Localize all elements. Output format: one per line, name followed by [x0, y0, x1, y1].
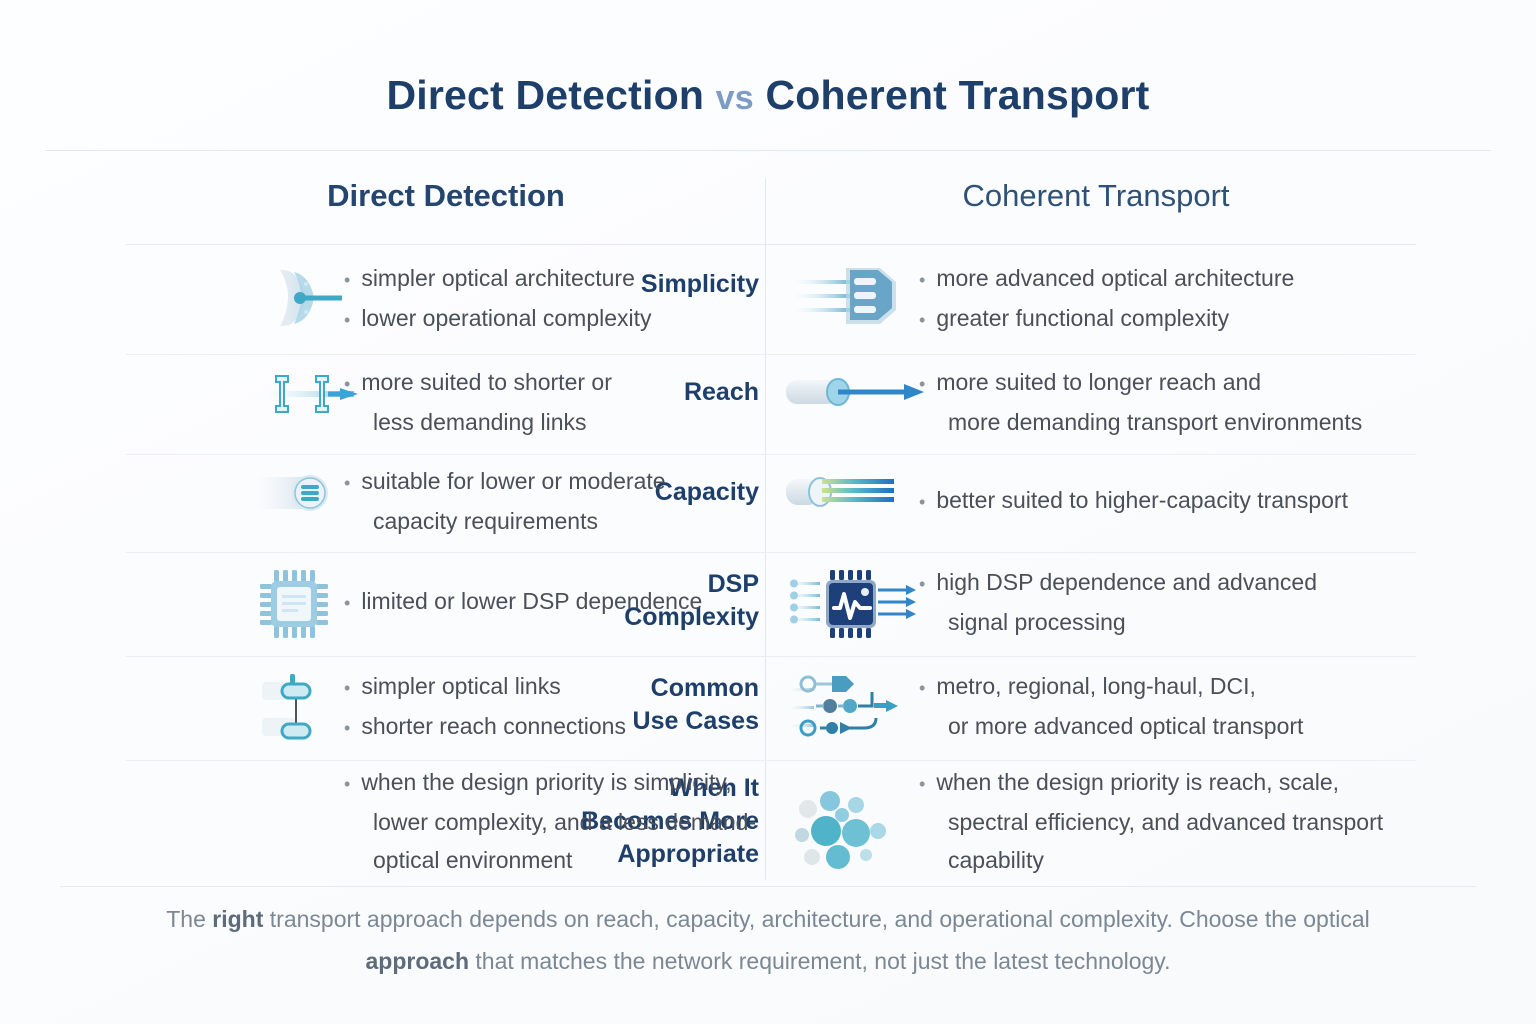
- direct-detection-bullet-list: suitable for lower or moderatecapacity r…: [344, 462, 666, 540]
- direct-detection-bullet: more suited to shorter orless demanding …: [344, 363, 612, 441]
- mesh-network-topology-icon: [786, 666, 882, 742]
- direct-detection-bullet: limited or lower DSP dependence: [344, 582, 702, 622]
- row-cell-direct-detection: CommonUse Cases simpler optical linkssho…: [126, 656, 765, 760]
- direct-detection-bullet: simpler optical architecture: [344, 259, 652, 299]
- two-node-link-icon: [254, 668, 350, 744]
- header-divider: [126, 244, 1416, 245]
- direct-detection-bullet-list: simpler optical architecturelower operat…: [344, 259, 652, 339]
- row-cell-direct-detection: Simplicity simpler optical architecturel…: [126, 246, 765, 354]
- direct-detection-bullet-line: optical environment: [373, 841, 756, 879]
- direct-detection-bullet-line: lower complexity, and a less demand-: [373, 803, 756, 841]
- comparison-row: DSPComplexity limited or lower DSP depen…: [126, 552, 1416, 656]
- multilane-fiber-spectrum-icon: [786, 461, 882, 537]
- footer-l1-a: The: [166, 906, 212, 932]
- coherent-transport-bullet: more suited to longer reach andmore dema…: [919, 363, 1362, 441]
- row-cell-coherent-transport: when the design priority is reach, scale…: [766, 760, 1416, 886]
- footer-l1-c: transport approach depends on reach, cap…: [263, 906, 1369, 932]
- coherent-transport-bullet-line: signal processing: [948, 603, 1317, 641]
- footer-summary: The right transport approach depends on …: [70, 898, 1466, 982]
- row-cell-coherent-transport: metro, regional, long-haul, DCI,or more …: [766, 656, 1416, 760]
- title-divider: [45, 150, 1491, 151]
- row-label-line: Simplicity: [641, 270, 759, 298]
- footer-l2-b: that matches the network requirement, no…: [469, 948, 1170, 974]
- row-label-line: Use Cases: [633, 707, 759, 735]
- stacked-lanes-badge-icon: [254, 463, 350, 539]
- column-headers: Direct Detection Coherent Transport: [0, 178, 1536, 242]
- plain-chip-icon: [254, 564, 350, 640]
- comparison-row: Capacity suitable for lower or moderatec…: [126, 454, 1416, 552]
- footer-line-1: The right transport approach depends on …: [70, 898, 1466, 940]
- direct-detection-bullet-list: when the design priority is simplicity,l…: [344, 763, 756, 879]
- coherent-transport-bullet-list: better suited to higher-capacity transpo…: [919, 481, 1348, 521]
- coherent-transport-bullet-line: capability: [948, 841, 1383, 879]
- column-header-direct-detection: Direct Detection: [126, 178, 766, 214]
- row-label-line: Capacity: [655, 478, 759, 506]
- direct-detection-bullet: simpler optical links: [344, 667, 626, 707]
- coherent-transport-bullet: high DSP dependence and advancedsignal p…: [919, 563, 1317, 641]
- row-cell-direct-detection: Capacity suitable for lower or moderatec…: [126, 454, 765, 552]
- footer-line-2: approach that matches the network requir…: [70, 940, 1466, 982]
- coherent-transport-bullet: greater functional complexity: [919, 299, 1294, 339]
- title-vs: vs: [716, 79, 754, 117]
- row-label-line: Reach: [684, 378, 759, 406]
- row-label-line: Common: [651, 674, 759, 702]
- fiber-endface-beam-icon: [254, 260, 350, 336]
- coherent-transport-bullet-list: metro, regional, long-haul, DCI,or more …: [919, 667, 1303, 745]
- coherent-transport-bullet-list: high DSP dependence and advancedsignal p…: [919, 563, 1317, 641]
- dsp-chip-waveform-icon: [786, 562, 882, 638]
- column-header-coherent-transport: Coherent Transport: [766, 178, 1426, 214]
- coherent-transport-bullet: when the design priority is reach, scale…: [919, 763, 1383, 879]
- coherent-transport-bullet-line: more demanding transport environments: [948, 403, 1362, 441]
- direct-detection-bullet: suitable for lower or moderatecapacity r…: [344, 462, 666, 540]
- coherent-transport-bullet: metro, regional, long-haul, DCI,or more …: [919, 667, 1303, 745]
- footer-emphasis-approach: approach: [366, 948, 470, 974]
- coherent-transport-bullet: better suited to higher-capacity transpo…: [919, 481, 1348, 521]
- row-cell-direct-detection: DSPComplexity limited or lower DSP depen…: [126, 552, 765, 656]
- footer-divider: [60, 886, 1476, 887]
- row-cell-coherent-transport: high DSP dependence and advancedsignal p…: [766, 552, 1416, 656]
- comparison-row: When ItBecomes MoreAppropriatewhen the d…: [126, 760, 1416, 886]
- coherent-transport-bullet-list: when the design priority is reach, scale…: [919, 763, 1383, 879]
- row-cell-coherent-transport: more suited to longer reach andmore dema…: [766, 354, 1416, 454]
- coherent-transport-bullet-list: more suited to longer reach andmore dema…: [919, 363, 1362, 441]
- long-fiber-arrow-icon: [786, 362, 882, 438]
- row-label-line: DSP: [708, 570, 759, 598]
- row-cell-direct-detection: When ItBecomes MoreAppropriatewhen the d…: [126, 760, 765, 886]
- coherent-transport-bullet-line: spectral efficiency, and advanced transp…: [948, 803, 1383, 841]
- direct-detection-bullet-list: more suited to shorter orless demanding …: [344, 363, 612, 441]
- direct-detection-bullet: lower operational complexity: [344, 299, 652, 339]
- direct-detection-bullet-line: capacity requirements: [373, 502, 666, 540]
- coherent-transport-bullet-list: more advanced optical architecturegreate…: [919, 259, 1294, 339]
- coherent-transport-bullet-line: or more advanced optical transport: [948, 707, 1303, 745]
- title-left-term: Direct Detection: [386, 72, 704, 118]
- footer-emphasis-right: right: [212, 906, 263, 932]
- comparison-row: Simplicity simpler optical architecturel…: [126, 246, 1416, 354]
- direct-detection-bullet-list: simpler optical linksshorter reach conne…: [344, 667, 626, 747]
- comparison-row: CommonUse Cases simpler optical linkssho…: [126, 656, 1416, 760]
- direct-detection-bullet-line: less demanding links: [373, 403, 612, 441]
- page-title: Direct Detection vs Coherent Transport: [0, 72, 1536, 119]
- direct-detection-bullet: shorter reach connections: [344, 707, 626, 747]
- short-link-connector-icon: [254, 364, 350, 440]
- coherent-transport-bullet: more advanced optical architecture: [919, 259, 1294, 299]
- direct-detection-bullet: when the design priority is simplicity,l…: [344, 763, 756, 879]
- direct-detection-bullet-list: limited or lower DSP dependence: [344, 582, 702, 622]
- multi-fiber-arrows-icon: [786, 258, 882, 334]
- infographic-canvas: Direct Detection vs Coherent Transport D…: [0, 0, 1536, 1024]
- row-cell-coherent-transport: better suited to higher-capacity transpo…: [766, 454, 1416, 552]
- row-cell-coherent-transport: more advanced optical architecturegreate…: [766, 246, 1416, 354]
- constellation-dots-icon: [786, 781, 882, 857]
- row-cell-direct-detection: Reach more suited to shorter orless dema…: [126, 354, 765, 454]
- comparison-row: Reach more suited to shorter orless dema…: [126, 354, 1416, 454]
- title-right-term: Coherent Transport: [765, 72, 1149, 118]
